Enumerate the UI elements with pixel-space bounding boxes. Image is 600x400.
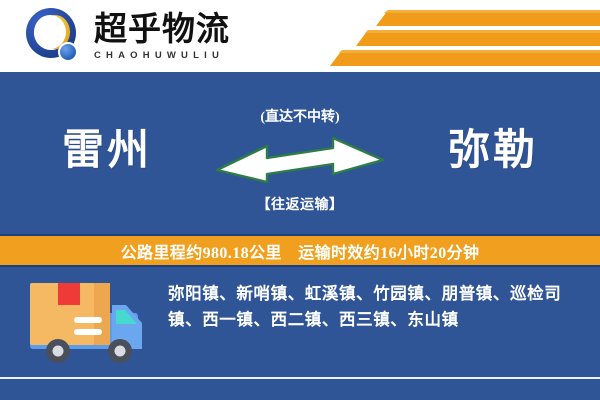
roundtrip-note: 【往返运输】 xyxy=(205,194,395,214)
orange-speed-stripes-icon xyxy=(310,6,600,68)
coverage-section: 弥阳镇、新哨镇、虹溪镇、竹园镇、朋普镇、巡检司镇、西一镇、西二镇、西三镇、东山镇 xyxy=(0,267,600,400)
bottom-divider xyxy=(0,377,600,379)
destination-city: 弥勒 xyxy=(448,116,538,177)
brand-name-cn: 超乎物流 xyxy=(94,13,230,48)
direct-service-note: (直达不中转) xyxy=(205,106,395,126)
brand-logo: 超乎物流 CHAOHUWULIU xyxy=(26,7,276,67)
banner-header: 超乎物流 CHAOHUWULIU xyxy=(0,0,600,72)
brand-text: 超乎物流 CHAOHUWULIU xyxy=(94,13,230,61)
route-section: 雷州 (直达不中转) 【往返运输】 弥勒 xyxy=(0,72,600,232)
origin-city: 雷州 xyxy=(62,116,152,177)
delivery-truck-icon xyxy=(28,279,150,376)
logistics-route-banner: 超乎物流 CHAOHUWULIU 雷州 (直达不中转) 【往返运输】 xyxy=(0,0,600,400)
covered-towns-list: 弥阳镇、新哨镇、虹溪镇、竹园镇、朋普镇、巡检司镇、西一镇、西二镇、西三镇、东山镇 xyxy=(168,281,580,332)
distance-duration-bar: 公路里程约980.18公里 运输时效约16小时20分钟 xyxy=(0,234,600,267)
distance-duration-text: 公路里程约980.18公里 运输时效约16小时20分钟 xyxy=(121,239,480,263)
brand-name-en: CHAOHUWULIU xyxy=(94,50,230,61)
route-arrow-block: (直达不中转) 【往返运输】 xyxy=(205,106,395,216)
circle-crescent-logo-icon xyxy=(26,8,84,66)
double-headed-arrow-icon xyxy=(215,134,385,186)
